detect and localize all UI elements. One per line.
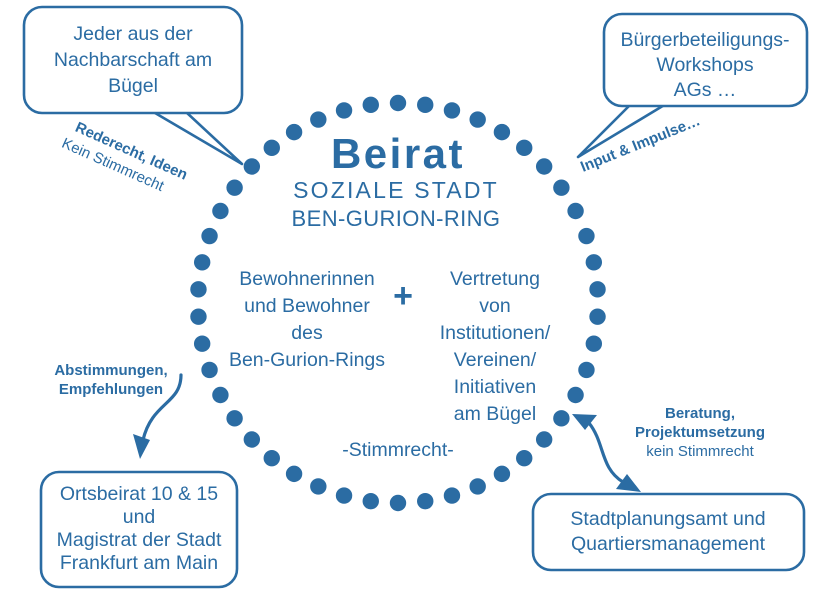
bubble-bottom-left-line-4: Frankfurt am Main [60, 552, 218, 574]
bubble-bottom-right-line-2: Quartiersmanagement [571, 533, 766, 555]
ring-dot [390, 95, 406, 111]
institutions-line-5: Initiativen [454, 376, 536, 398]
ring-dot [264, 140, 280, 156]
member-group-institutions: Vertretung von Institutionen/ Vereinen/ … [440, 268, 551, 425]
ring-dot [363, 97, 379, 113]
ring-dot [536, 158, 552, 174]
annotation-bottom-right-line-2: Projektumsetzung [635, 424, 765, 441]
ring-dot [336, 102, 352, 118]
ring-dot [494, 124, 510, 140]
ring-dot [417, 97, 433, 113]
institutions-line-6: am Bügel [454, 403, 536, 425]
ring-dot [310, 111, 326, 127]
bubble-top-right-line-1: Bürgerbeteiligungs- [620, 29, 789, 51]
bubble-top-left[interactable]: Jeder aus der Nachbarschaft am Bügel [24, 7, 242, 164]
voting-rights-note: -Stimmrecht- [342, 439, 454, 461]
ring-dot [212, 203, 228, 219]
annotation-bottom-left-line-1: Abstimmungen, [54, 362, 167, 379]
ring-dot [417, 493, 433, 509]
annotation-bottom-left-line-2: Empfehlungen [59, 381, 163, 398]
arrow-head-bottom-right-down [616, 474, 641, 492]
ring-dot [553, 410, 569, 426]
bubble-top-right-line-3: AGs … [674, 79, 737, 101]
bubble-bottom-left-line-2: und [123, 506, 156, 528]
ring-dot [190, 308, 206, 324]
ring-dot [194, 254, 210, 270]
residents-line-4: Ben-Gurion-Rings [229, 349, 385, 371]
bubble-bottom-right-line-1: Stadtplanungsamt und [570, 508, 765, 530]
ring-dot [390, 495, 406, 511]
annotation-bottom-right-line-1: Beratung, [665, 405, 735, 422]
bubble-top-right[interactable]: Bürgerbeteiligungs- Workshops AGs … [578, 14, 807, 157]
arrow-path-bottom-right [589, 423, 623, 482]
ring-dot [536, 431, 552, 447]
ring-dot [363, 493, 379, 509]
ring-dot [469, 111, 485, 127]
institutions-line-4: Vereinen/ [454, 349, 537, 371]
ring-dot [444, 487, 460, 503]
ring-dot [286, 466, 302, 482]
ring-dot [336, 487, 352, 503]
ring-dot [469, 478, 485, 494]
bubble-bottom-left[interactable]: Ortsbeirat 10 & 15 und Magistrat der Sta… [41, 472, 237, 587]
ring-dot [553, 179, 569, 195]
ring-dot [286, 124, 302, 140]
bubble-top-left-line-3: Bügel [108, 75, 158, 97]
bubble-top-left-line-1: Jeder aus der [73, 23, 193, 45]
residents-line-3: des [291, 322, 323, 344]
ring-dot [310, 478, 326, 494]
bubble-top-right-line-2: Workshops [656, 54, 753, 76]
ring-dot [244, 158, 260, 174]
beirat-organigram: Beirat SOZIALE STADT BEN-GURION-RING Bew… [0, 0, 820, 600]
annotation-bottom-right: Beratung, Projektumsetzung kein Stimmrec… [635, 405, 765, 460]
ring-dot [578, 228, 594, 244]
bubble-bottom-left-line-3: Magistrat der Stadt [57, 529, 222, 551]
residents-line-1: Bewohnerinnen [239, 268, 375, 290]
annotation-bottom-left: Abstimmungen, Empfehlungen [54, 362, 167, 398]
bubble-top-left-line-2: Nachbarschaft am [54, 49, 212, 71]
ring-dot [444, 102, 460, 118]
annotation-bottom-right-line-3: kein Stimmrecht [646, 443, 754, 460]
diagram-canvas: Beirat SOZIALE STADT BEN-GURION-RING Bew… [0, 0, 820, 600]
ring-dot [194, 335, 210, 351]
institutions-line-2: von [479, 295, 510, 317]
bubble-bottom-right[interactable]: Stadtplanungsamt und Quartiersmanagement [533, 494, 804, 570]
ring-dot [567, 203, 583, 219]
residents-line-2: und Bewohner [244, 295, 370, 317]
member-group-residents: Bewohnerinnen und Bewohner des Ben-Gurio… [229, 268, 385, 371]
ring-dot [578, 362, 594, 378]
ring-dot [201, 362, 217, 378]
ring-dot [516, 140, 532, 156]
ring-dot [201, 228, 217, 244]
ring-dot [586, 254, 602, 270]
institutions-line-3: Institutionen/ [440, 322, 551, 344]
subtitle-ben-gurion-ring: BEN-GURION-RING [292, 206, 501, 231]
ring-dot [516, 450, 532, 466]
ring-dot [190, 281, 206, 297]
institutions-line-1: Vertretung [450, 268, 540, 290]
arrow-head-bottom-left [133, 434, 150, 459]
arrow-consulting-bidirectional [572, 414, 641, 492]
ring-dot [494, 466, 510, 482]
ring-dot [212, 387, 228, 403]
ring-dot [567, 387, 583, 403]
ring-dot [226, 179, 242, 195]
page-title: Beirat [331, 130, 465, 177]
ring-dot [589, 281, 605, 297]
subtitle-soziale-stadt: SOZIALE STADT [293, 177, 499, 203]
bubble-bottom-left-line-1: Ortsbeirat 10 & 15 [60, 483, 218, 505]
ring-dot [226, 410, 242, 426]
bubble-body-bottom-right [533, 494, 804, 570]
plus-icon: + [393, 277, 413, 315]
ring-dot [589, 308, 605, 324]
ring-dot [264, 450, 280, 466]
ring-dot [586, 335, 602, 351]
ring-dot [244, 431, 260, 447]
annotation-top-left: Rederecht, Ideen Kein Stimmrecht [59, 116, 190, 201]
